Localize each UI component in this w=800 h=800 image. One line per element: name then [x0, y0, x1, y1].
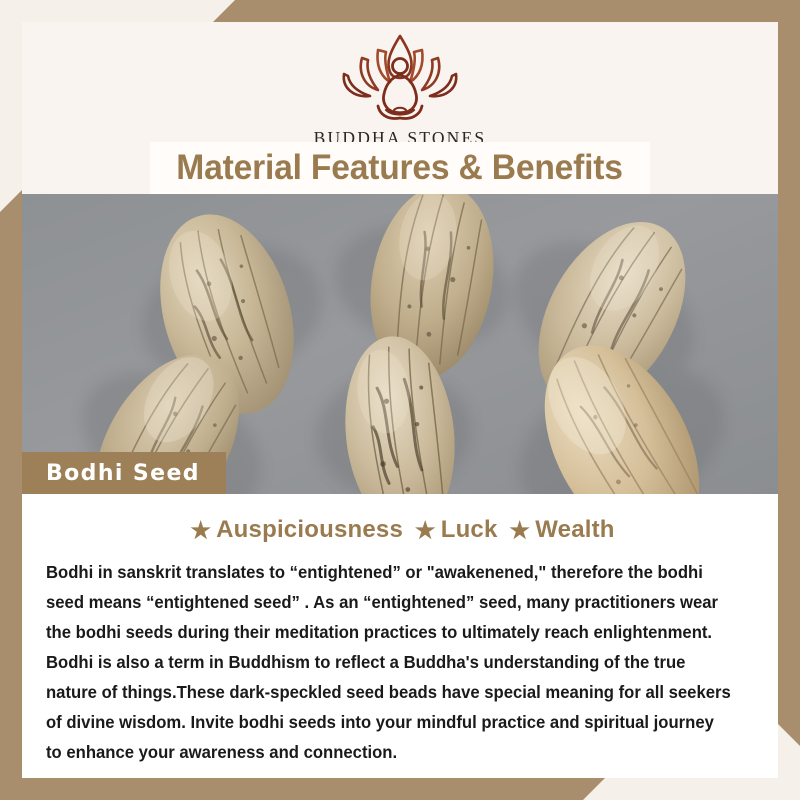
- benefit-wealth: Wealth: [535, 516, 614, 543]
- lotus-meditation-icon: [320, 30, 480, 126]
- benefit-luck: Luck: [441, 516, 498, 543]
- star-icon: ★: [415, 517, 436, 543]
- page-surface: BUDDHA STONES Material Features & Benefi…: [22, 22, 778, 778]
- photo-caption-badge: Bodhi Seed: [22, 452, 226, 494]
- frame-band-top: [213, 0, 800, 22]
- frame-band-right: [778, 20, 800, 746]
- title-banner: Material Features & Benefits: [150, 142, 650, 194]
- star-icon: ★: [509, 517, 530, 543]
- frame-band-left: [0, 190, 22, 780]
- content-card: ★Auspiciousness ★Luck ★Wealth Bodhi in s…: [22, 494, 778, 778]
- star-icon: ★: [190, 517, 211, 543]
- page-title: Material Features & Benefits: [177, 148, 624, 188]
- photo-caption-text: Bodhi Seed: [46, 461, 200, 486]
- benefit-auspiciousness: Auspiciousness: [216, 516, 403, 543]
- bodhi-seeds-image: [22, 194, 778, 494]
- poster-root: BUDDHA STONES Material Features & Benefi…: [0, 0, 800, 800]
- benefits-headline: ★Auspiciousness ★Luck ★Wealth: [46, 516, 754, 544]
- product-photo: Bodhi Seed: [22, 194, 778, 494]
- frame-band-bottom: [0, 778, 605, 800]
- brand-logo: BUDDHA STONES: [22, 30, 778, 149]
- description-paragraph: Bodhi in sanskrit translates to “entight…: [46, 558, 733, 767]
